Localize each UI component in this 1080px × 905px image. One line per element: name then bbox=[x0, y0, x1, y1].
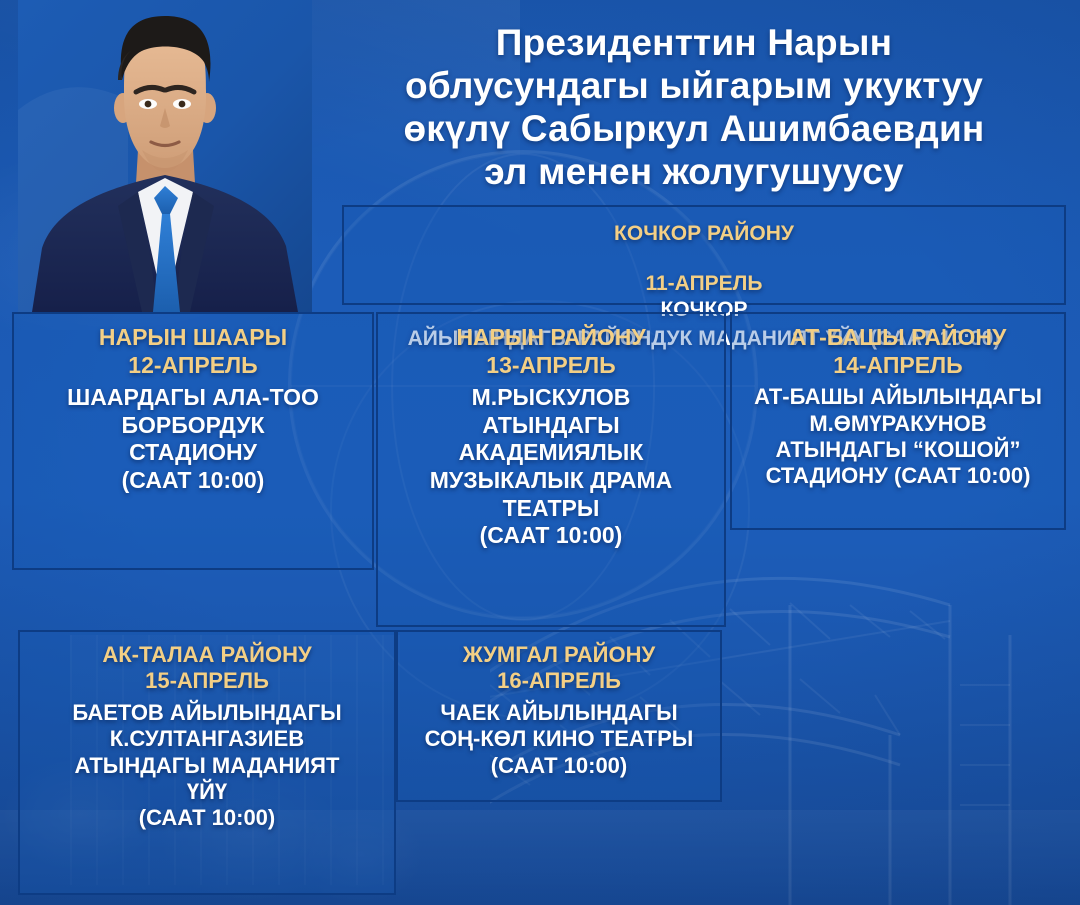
event-jumgal-header: ЖУМГАЛ РАЙОНУ 16-АПРЕЛЬ bbox=[410, 642, 708, 695]
event-at-bashy-district: АТ-БАШЫ РАЙОНУ bbox=[744, 324, 1052, 352]
title-line-2: облусундагы ыйгарым укуктуу bbox=[322, 65, 1066, 108]
event-at-bashy-time: СТАДИОНУ (СААТ 10:00) bbox=[744, 463, 1052, 489]
event-naryn-district-venue-line-1: М.РЫСКУЛОВ bbox=[390, 384, 712, 412]
event-jumgal-venue: ЧАЕК АЙЫЛЫНДАГЫ СОҢ-КӨЛ КИНО ТЕАТРЫ (САА… bbox=[410, 700, 708, 779]
event-ak-talaa-venue: БАЕТОВ АЙЫЛЫНДАГЫ К.СУЛТАНГАЗИЕВ АТЫНДАГ… bbox=[32, 700, 382, 832]
event-ak-talaa-venue-line-2: К.СУЛТАНГАЗИЕВ bbox=[32, 726, 382, 752]
event-ak-talaa-header: АК-ТАЛАА РАЙОНУ 15-АПРЕЛЬ bbox=[32, 642, 382, 695]
event-at-bashy-venue-line-1: АТ-БАШЫ АЙЫЛЫНДАГЫ bbox=[744, 384, 1052, 410]
event-ak-talaa-venue-line-4: ҮЙҮ bbox=[32, 779, 382, 805]
event-naryn-district-venue-line-3: АКАДЕМИЯЛЫК bbox=[390, 439, 712, 467]
event-naryn-city-venue-line-2: БОРБОРДУК bbox=[26, 412, 360, 440]
event-naryn-district-venue-line-4: МУЗЫКАЛЫК ДРАМА bbox=[390, 467, 712, 495]
event-naryn-district-district: НАРЫН РАЙОНУ bbox=[390, 324, 712, 352]
page-title: Президенттин Нарын облусундагы ыйгарым у… bbox=[322, 22, 1066, 194]
event-jumgal-venue-line-2: СОҢ-КӨЛ КИНО ТЕАТРЫ bbox=[410, 726, 708, 752]
event-naryn-district-time: (СААТ 10:00) bbox=[390, 522, 712, 550]
event-card-naryn-district: НАРЫН РАЙОНУ 13-АПРЕЛЬ М.РЫСКУЛОВ АТЫНДА… bbox=[376, 312, 726, 627]
event-card-ak-talaa: АК-ТАЛАА РАЙОНУ 15-АПРЕЛЬ БАЕТОВ АЙЫЛЫНД… bbox=[18, 630, 396, 895]
event-naryn-city-date: 12-АПРЕЛЬ bbox=[26, 352, 360, 380]
event-card-naryn-city: НАРЫН ШААРЫ 12-АПРЕЛЬ ШААРДАГЫ АЛА-ТОО Б… bbox=[12, 312, 374, 570]
title-line-3: өкүлү Сабыркул Ашимбаевдин bbox=[322, 108, 1066, 151]
event-ak-talaa-venue-line-3: АТЫНДАГЫ МАДАНИЯТ bbox=[32, 753, 382, 779]
title-line-1: Президенттин Нарын bbox=[322, 22, 1066, 65]
event-naryn-district-header: НАРЫН РАЙОНУ 13-АПРЕЛЬ bbox=[390, 324, 712, 379]
event-ak-talaa-time: (СААТ 10:00) bbox=[32, 805, 382, 831]
event-jumgal-date: 16-АПРЕЛЬ bbox=[410, 668, 708, 694]
event-jumgal-district: ЖУМГАЛ РАЙОНУ bbox=[410, 642, 708, 668]
event-naryn-district-venue-line-2: АТЫНДАГЫ bbox=[390, 412, 712, 440]
event-jumgal-time: (СААТ 10:00) bbox=[410, 753, 708, 779]
event-at-bashy-date: 14-АПРЕЛЬ bbox=[744, 352, 1052, 380]
event-naryn-district-venue: М.РЫСКУЛОВ АТЫНДАГЫ АКАДЕМИЯЛЫК МУЗЫКАЛЫ… bbox=[390, 384, 712, 550]
event-naryn-district-date: 13-АПРЕЛЬ bbox=[390, 352, 712, 380]
event-naryn-city-header: НАРЫН ШААРЫ 12-АПРЕЛЬ bbox=[26, 324, 360, 379]
event-at-bashy-venue: АТ-БАШЫ АЙЫЛЫНДАГЫ М.ӨМҮРАКУНОВ АТЫНДАГЫ… bbox=[744, 384, 1052, 490]
event-card-jumgal: ЖУМГАЛ РАЙОНУ 16-АПРЕЛЬ ЧАЕК АЙЫЛЫНДАГЫ … bbox=[396, 630, 722, 802]
event-kochkor-district: КОЧКОР РАЙОНУ bbox=[356, 221, 1052, 246]
announcement-poster: Президенттин Нарын облусундагы ыйгарым у… bbox=[0, 0, 1080, 905]
event-jumgal-venue-line-1: ЧАЕК АЙЫЛЫНДАГЫ bbox=[410, 700, 708, 726]
event-ak-talaa-district: АК-ТАЛАА РАЙОНУ bbox=[32, 642, 382, 668]
event-naryn-city-time: (СААТ 10:00) bbox=[26, 467, 360, 495]
event-card-at-bashy: АТ-БАШЫ РАЙОНУ 14-АПРЕЛЬ АТ-БАШЫ АЙЫЛЫНД… bbox=[730, 312, 1066, 530]
event-naryn-district-venue-line-5: ТЕАТРЫ bbox=[390, 495, 712, 523]
event-at-bashy-venue-line-3: АТЫНДАГЫ “КОШОЙ” bbox=[744, 437, 1052, 463]
event-naryn-city-venue-line-1: ШААРДАГЫ АЛА-ТОО bbox=[26, 384, 360, 412]
event-naryn-city-venue-line-3: СТАДИОНУ bbox=[26, 439, 360, 467]
event-naryn-city-venue: ШААРДАГЫ АЛА-ТОО БОРБОРДУК СТАДИОНУ (САА… bbox=[26, 384, 360, 494]
event-at-bashy-venue-line-2: М.ӨМҮРАКУНОВ bbox=[744, 411, 1052, 437]
event-card-kochkor: КОЧКОР РАЙОНУ 11-АПРЕЛЬ КОЧКОР АЙЫЛЫНДАГ… bbox=[342, 205, 1066, 305]
event-naryn-city-district: НАРЫН ШААРЫ bbox=[26, 324, 360, 352]
event-kochkor-header: КОЧКОР РАЙОНУ 11-АПРЕЛЬ КОЧКОР bbox=[356, 221, 1052, 322]
event-ak-talaa-date: 15-АПРЕЛЬ bbox=[32, 668, 382, 694]
avatar bbox=[18, 0, 312, 312]
event-ak-talaa-venue-line-1: БАЕТОВ АЙЫЛЫНДАГЫ bbox=[32, 700, 382, 726]
event-kochkor-date: 11-АПРЕЛЬ bbox=[356, 271, 1052, 296]
title-line-4: эл менен жолугушуусу bbox=[322, 151, 1066, 194]
event-at-bashy-header: АТ-БАШЫ РАЙОНУ 14-АПРЕЛЬ bbox=[744, 324, 1052, 379]
